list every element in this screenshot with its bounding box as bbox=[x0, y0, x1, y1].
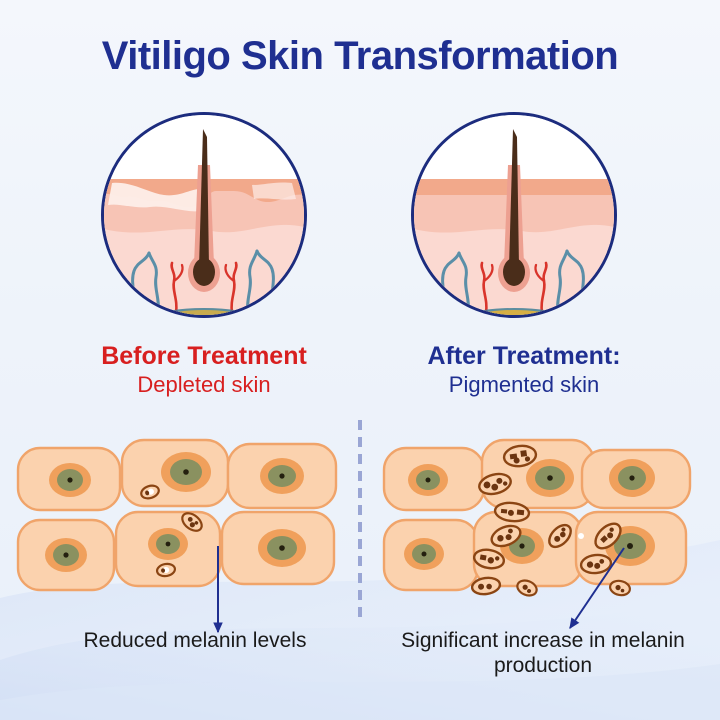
cell-cluster-before bbox=[14, 436, 344, 596]
caption-before-main: Before Treatment bbox=[44, 342, 364, 370]
caption-after-main: After Treatment: bbox=[364, 342, 684, 370]
caption-after: After Treatment: Pigmented skin bbox=[364, 342, 684, 398]
cell-cluster-after bbox=[382, 436, 712, 596]
skin-cross-section-depigmented-svg bbox=[104, 115, 304, 315]
caption-after-sub: Pigmented skin bbox=[364, 373, 684, 398]
caption-before-sub: Depleted skin bbox=[44, 373, 364, 398]
skin-diagram-before bbox=[101, 112, 307, 318]
skin-diagram-after bbox=[411, 112, 617, 318]
infographic-canvas: Vitiligo Skin Transformation bbox=[0, 0, 720, 720]
skin-cross-section-pigmented-svg bbox=[414, 115, 614, 315]
label-increased-melanin: Significant increase in melanin producti… bbox=[388, 628, 698, 678]
keratinocyte-cluster-low-melanin-svg bbox=[14, 436, 344, 596]
vertical-dashed-divider bbox=[358, 420, 362, 620]
label-reduced-melanin: Reduced melanin levels bbox=[45, 628, 345, 653]
caption-before: Before Treatment Depleted skin bbox=[44, 342, 364, 398]
keratinocyte-cluster-high-melanin-svg bbox=[382, 436, 712, 596]
page-title: Vitiligo Skin Transformation bbox=[0, 34, 720, 79]
